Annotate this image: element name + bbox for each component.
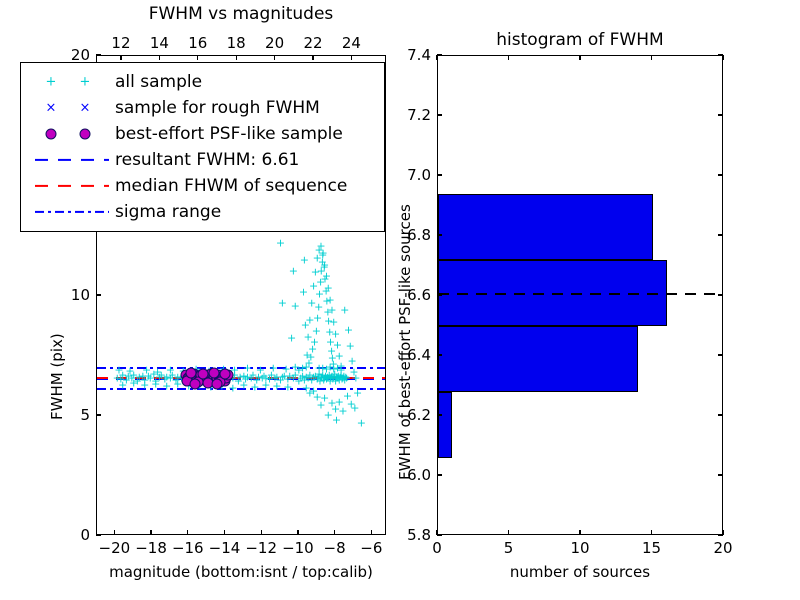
right-top-tick: [436, 55, 437, 60]
scatter-point-all-sample: +: [346, 341, 355, 352]
scatter-point-all-sample: +: [153, 366, 162, 377]
scatter-point-all-sample: +: [166, 364, 175, 375]
histogram-bar: [438, 392, 452, 458]
left-x-tick: [334, 530, 335, 535]
right-y-tick-right: [718, 234, 723, 235]
scatter-point-all-sample: +: [142, 365, 151, 376]
scatter-point-psf-sample: [212, 378, 223, 389]
right-x-ticklabel: 20: [701, 539, 745, 557]
left-y-tick: [96, 414, 101, 415]
right-x-ticklabel: 10: [558, 539, 602, 557]
scatter-point-all-sample: +: [309, 281, 318, 292]
legend-symbol-plus-marker: ++: [29, 71, 115, 93]
scatter-point-all-sample: +: [289, 265, 298, 276]
right-y-ticklabel: 5.8: [387, 526, 431, 544]
right-y-tick-right: [718, 474, 723, 475]
cross-marker: ×: [80, 102, 91, 115]
scatter-point-all-sample: +: [250, 381, 259, 392]
scatter-point-all-sample: +: [278, 298, 287, 309]
left-x-axis-label: magnitude (bottom:isnt / top:calib): [81, 563, 401, 581]
circle-marker: [46, 129, 57, 140]
right-y-axis-label: FWHM of best-effort PSF-like sources: [396, 204, 414, 480]
scatter-point-all-sample: +: [276, 238, 285, 249]
scatter-point-all-sample: +: [303, 349, 312, 360]
scatter-point-all-sample: +: [162, 380, 171, 391]
top-x-tick: [312, 55, 313, 60]
left-plot-title: FWHM vs magnitudes: [96, 4, 386, 24]
legend-symbol-cross-marker: ××: [29, 97, 115, 119]
scatter-point-all-sample: +: [239, 380, 248, 391]
top-x-tick: [236, 55, 237, 60]
left-x-tick: [187, 530, 188, 535]
scatter-point-all-sample: +: [283, 382, 292, 393]
right-y-tick: [437, 474, 442, 475]
legend-label: best-effort PSF-like sample: [115, 124, 343, 144]
right-x-tick: [579, 530, 580, 535]
histogram-bar: [438, 326, 638, 392]
legend-label: sigma range: [115, 202, 221, 222]
scatter-point-all-sample: +: [351, 372, 360, 383]
left-y-tick: [96, 54, 101, 55]
top-x-tick: [159, 55, 160, 60]
scatter-point-all-sample: +: [350, 402, 359, 413]
right-y-ticklabel: 6.8: [387, 226, 431, 244]
left-y-ticklabel: 0: [50, 526, 90, 544]
top-x-ticklabel: 14: [137, 34, 181, 52]
top-x-ticklabel: 16: [176, 34, 220, 52]
legend-label: all sample: [115, 72, 202, 92]
right-y-tick-right: [718, 294, 723, 295]
histogram-reference-line: [438, 293, 722, 295]
scatter-point-all-sample: +: [269, 363, 278, 374]
scatter-point-all-sample: +: [302, 383, 311, 394]
right-x-tick: [508, 530, 509, 535]
scatter-point-all-sample: +: [281, 364, 290, 375]
scatter-point-all-sample: +: [311, 267, 320, 278]
right-top-tick: [579, 55, 580, 60]
scatter-point-all-sample: +: [125, 366, 134, 377]
left-y-ticklabel: 10: [50, 286, 90, 304]
scatter-point-all-sample: +: [272, 381, 281, 392]
legend-symbol-dashdot-line: [29, 201, 115, 223]
scatter-point-all-sample: +: [312, 325, 321, 336]
dashed-line: [35, 159, 109, 161]
plus-marker: +: [46, 76, 57, 89]
right-y-tick: [437, 354, 442, 355]
scatter-point-psf-sample: [219, 368, 230, 379]
dashed-line: [35, 185, 109, 187]
scatter-point-all-sample: +: [140, 380, 149, 391]
right-y-tick-right: [718, 114, 723, 115]
scatter-point-all-sample: +: [301, 319, 310, 330]
plot-legend: ++all sample××sample for rough FWHMbest-…: [20, 62, 385, 232]
right-x-axis-label: number of sources: [437, 563, 723, 581]
top-x-tick: [274, 55, 275, 60]
right-x-ticklabel: 15: [630, 539, 674, 557]
right-y-tick: [437, 174, 442, 175]
right-y-tick: [437, 54, 442, 55]
right-y-tick: [437, 234, 442, 235]
scatter-point-all-sample: +: [129, 378, 138, 389]
right-top-tick: [508, 55, 509, 60]
right-y-ticklabel: 6.6: [387, 286, 431, 304]
scatter-point-all-sample: +: [114, 364, 123, 375]
scatter-point-psf-sample: [190, 378, 201, 389]
legend-label: median FHWM of sequence: [115, 176, 347, 196]
scatter-point-all-sample: +: [291, 362, 300, 373]
dashdot-line: [35, 211, 109, 213]
legend-label: resultant FWHM: 6.61: [115, 150, 299, 170]
circle-marker: [80, 129, 91, 140]
right-y-ticklabel: 6.4: [387, 346, 431, 364]
left-x-tick: [114, 530, 115, 535]
legend-item: best-effort PSF-like sample: [29, 121, 376, 147]
histogram-axes: [437, 55, 723, 535]
top-x-ticklabel: 20: [253, 34, 297, 52]
legend-item: median FHWM of sequence: [29, 173, 376, 199]
right-y-tick-right: [718, 414, 723, 415]
left-x-tick: [297, 530, 298, 535]
top-x-ticklabel: 12: [99, 34, 143, 52]
legend-label: sample for rough FWHM: [115, 98, 320, 118]
right-y-ticklabel: 7.4: [387, 46, 431, 64]
left-y-tick: [96, 294, 101, 295]
legend-item: sigma range: [29, 199, 376, 225]
right-y-tick: [437, 534, 442, 535]
left-y-ticklabel: 5: [50, 406, 90, 424]
right-y-tick-right: [718, 174, 723, 175]
cross-marker: ×: [46, 102, 57, 115]
right-x-ticklabel: 5: [487, 539, 531, 557]
scatter-point-all-sample: +: [151, 378, 160, 389]
scatter-point-all-sample: +: [300, 255, 309, 266]
right-y-ticklabel: 7.0: [387, 166, 431, 184]
legend-item: ++all sample: [29, 69, 376, 95]
scatter-point-all-sample: +: [329, 317, 338, 328]
left-x-tick: [224, 530, 225, 535]
legend-symbol-circle-marker: [29, 123, 115, 145]
legend-item: ××sample for rough FWHM: [29, 95, 376, 121]
scatter-point-all-sample: +: [322, 270, 331, 281]
right-top-tick: [722, 55, 723, 60]
right-y-ticklabel: 7.2: [387, 106, 431, 124]
right-y-tick: [437, 114, 442, 115]
right-y-tick-right: [718, 354, 723, 355]
right-y-ticklabel: 6.2: [387, 406, 431, 424]
scatter-point-all-sample: +: [287, 333, 296, 344]
scatter-point-all-sample: +: [256, 364, 265, 375]
scatter-point-all-sample: +: [324, 282, 333, 293]
right-x-tick: [651, 530, 652, 535]
scatter-point-all-sample: +: [327, 305, 336, 316]
right-y-tick: [437, 414, 442, 415]
left-y-tick: [96, 534, 101, 535]
histogram-plot-area: [438, 56, 722, 534]
scatter-point-all-sample: +: [340, 305, 349, 316]
right-top-tick: [651, 55, 652, 60]
left-x-tick: [150, 530, 151, 535]
scatter-point-all-sample: +: [261, 379, 270, 390]
scatter-point-all-sample: +: [299, 287, 308, 298]
left-x-tick: [371, 530, 372, 535]
right-y-ticklabel: 6.0: [387, 466, 431, 484]
right-plot-title: histogram of FWHM: [437, 30, 723, 50]
right-y-tick-right: [718, 54, 723, 55]
plus-marker: +: [80, 76, 91, 89]
scatter-point-all-sample: +: [118, 379, 127, 390]
top-x-ticklabel: 18: [214, 34, 258, 52]
legend-item: resultant FWHM: 6.61: [29, 147, 376, 173]
top-x-tick: [120, 55, 121, 60]
legend-symbol-dashed-line: [29, 149, 115, 171]
top-x-tick: [197, 55, 198, 60]
top-x-tick: [351, 55, 352, 60]
scatter-point-all-sample: +: [337, 365, 346, 376]
top-x-ticklabel: 22: [291, 34, 335, 52]
right-y-tick-right: [718, 534, 723, 535]
scatter-point-all-sample: +: [332, 414, 341, 425]
scatter-point-all-sample: +: [243, 363, 252, 374]
legend-symbol-dashed-line: [29, 175, 115, 197]
scatter-point-all-sample: +: [303, 331, 312, 342]
top-x-ticklabel: 24: [329, 34, 373, 52]
scatter-point-all-sample: +: [307, 298, 316, 309]
right-y-tick: [437, 294, 442, 295]
scatter-point-all-sample: +: [291, 300, 300, 311]
scatter-point-all-sample: +: [357, 418, 366, 429]
scatter-point-all-sample: +: [344, 324, 353, 335]
left-x-tick: [261, 530, 262, 535]
figure-canvas: FWHM vs magnitudes +++++++++++++++++++++…: [0, 0, 800, 600]
histogram-bar: [438, 194, 653, 260]
